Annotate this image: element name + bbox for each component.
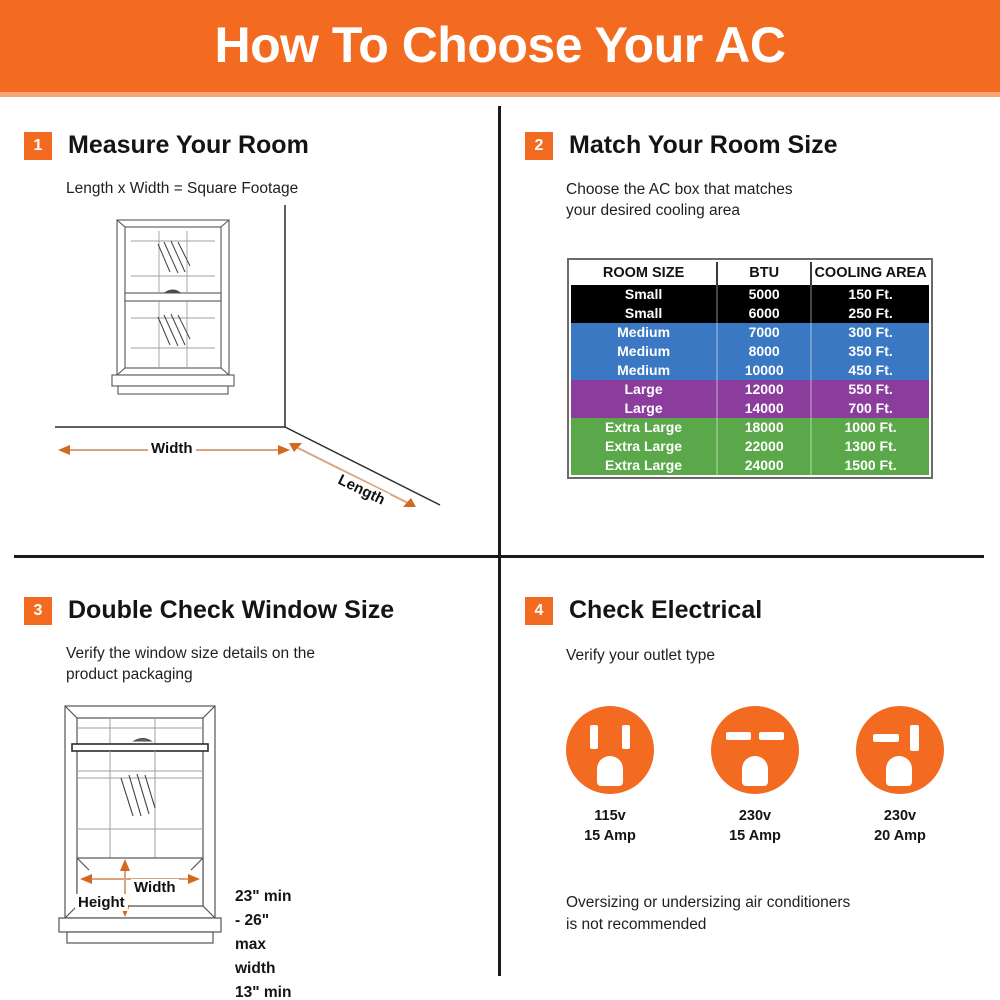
cell-btu: 18000 bbox=[717, 418, 811, 437]
cell-btu: 14000 bbox=[717, 399, 811, 418]
cell-cooling-area: 350 Ft. bbox=[811, 342, 929, 361]
window-size-spec: 23" min - 26" max width 13" min height o… bbox=[235, 885, 295, 1000]
table-row: Small 6000 250 Ft. bbox=[571, 304, 929, 323]
cell-room-size: Large bbox=[571, 380, 717, 399]
table-header-row: ROOM SIZE BTU COOLING AREA bbox=[571, 262, 929, 285]
vertical-divider bbox=[498, 106, 501, 976]
step-3-badge: 3 bbox=[24, 597, 52, 625]
window-width-label: Width bbox=[131, 879, 179, 896]
cell-cooling-area: 150 Ft. bbox=[811, 285, 929, 304]
outlet-option-230v-20amp[interactable]: 230v 20 Amp bbox=[845, 706, 955, 846]
table-row: Medium 10000 450 Ft. bbox=[571, 361, 929, 380]
step-4-subtitle: Verify your outlet type bbox=[566, 645, 966, 666]
header-underline bbox=[0, 92, 1000, 97]
step-3-title: Double Check Window Size bbox=[68, 596, 394, 625]
room-corner-diagram bbox=[30, 200, 490, 530]
cell-cooling-area: 300 Ft. bbox=[811, 323, 929, 342]
step-3-header: 3 Double Check Window Size bbox=[24, 596, 394, 625]
infographic-page: How To Choose Your AC 1 Measure Your Roo… bbox=[0, 0, 1000, 1000]
outlet-caption: 230v 15 Amp bbox=[729, 806, 781, 846]
table-row: Large 14000 700 Ft. bbox=[571, 399, 929, 418]
step-3-subtitle: Verify the window size details on the pr… bbox=[66, 643, 486, 685]
cell-cooling-area: 550 Ft. bbox=[811, 380, 929, 399]
cell-cooling-area: 1500 Ft. bbox=[811, 456, 929, 475]
column-header-cooling-area: COOLING AREA bbox=[811, 262, 929, 285]
cell-room-size: Extra Large bbox=[571, 456, 717, 475]
cell-room-size: Medium bbox=[571, 361, 717, 380]
step-4-title: Check Electrical bbox=[569, 596, 762, 625]
cell-room-size: Medium bbox=[571, 323, 717, 342]
table-row: Medium 8000 350 Ft. bbox=[571, 342, 929, 361]
table-row: Extra Large 24000 1500 Ft. bbox=[571, 456, 929, 475]
btu-table-container: ROOM SIZE BTU COOLING AREA Small 5000 15… bbox=[567, 258, 933, 479]
cell-room-size: Extra Large bbox=[571, 418, 717, 437]
step-1-subtitle: Length x Width = Square Footage bbox=[66, 178, 486, 199]
outlet-230v-15amp-icon bbox=[711, 706, 799, 794]
table-row: Extra Large 22000 1300 Ft. bbox=[571, 437, 929, 456]
cell-cooling-area: 700 Ft. bbox=[811, 399, 929, 418]
window-measure-diagram bbox=[55, 698, 255, 953]
step-2-title: Match Your Room Size bbox=[569, 131, 838, 160]
outlet-caption: 230v 20 Amp bbox=[874, 806, 926, 846]
outlet-230v-20amp-icon bbox=[856, 706, 944, 794]
cell-btu: 24000 bbox=[717, 456, 811, 475]
column-header-btu: BTU bbox=[717, 262, 811, 285]
cell-btu: 10000 bbox=[717, 361, 811, 380]
window-height-label: Height bbox=[75, 894, 128, 911]
sizing-note: Oversizing or undersizing air conditione… bbox=[566, 892, 956, 936]
btu-table-body: Small 5000 150 Ft. Small 6000 250 Ft. Me… bbox=[571, 285, 929, 475]
cell-btu: 6000 bbox=[717, 304, 811, 323]
btu-table: ROOM SIZE BTU COOLING AREA Small 5000 15… bbox=[571, 262, 929, 475]
step-2-badge: 2 bbox=[525, 132, 553, 160]
table-row: Medium 7000 300 Ft. bbox=[571, 323, 929, 342]
cell-btu: 12000 bbox=[717, 380, 811, 399]
cell-room-size: Extra Large bbox=[571, 437, 717, 456]
cell-btu: 22000 bbox=[717, 437, 811, 456]
cell-btu: 8000 bbox=[717, 342, 811, 361]
cell-cooling-area: 250 Ft. bbox=[811, 304, 929, 323]
step-2-subtitle: Choose the AC box that matches your desi… bbox=[566, 179, 966, 221]
cell-cooling-area: 450 Ft. bbox=[811, 361, 929, 380]
page-title: How To Choose Your AC bbox=[0, 14, 1000, 76]
table-row: Extra Large 18000 1000 Ft. bbox=[571, 418, 929, 437]
cell-btu: 7000 bbox=[717, 323, 811, 342]
outlet-type-group: 115v 15 Amp 230v 15 Amp 230v 20 Amp bbox=[555, 706, 955, 846]
cell-room-size: Small bbox=[571, 304, 717, 323]
step-1-header: 1 Measure Your Room bbox=[24, 131, 309, 160]
cell-cooling-area: 1300 Ft. bbox=[811, 437, 929, 456]
table-row: Large 12000 550 Ft. bbox=[571, 380, 929, 399]
column-header-room-size: ROOM SIZE bbox=[571, 262, 717, 285]
cell-room-size: Medium bbox=[571, 342, 717, 361]
outlet-option-230v-15amp[interactable]: 230v 15 Amp bbox=[700, 706, 810, 846]
table-row: Small 5000 150 Ft. bbox=[571, 285, 929, 304]
cell-room-size: Large bbox=[571, 399, 717, 418]
step-1-title: Measure Your Room bbox=[68, 131, 309, 160]
step-4-header: 4 Check Electrical bbox=[525, 596, 762, 625]
cell-btu: 5000 bbox=[717, 285, 811, 304]
step-1-badge: 1 bbox=[24, 132, 52, 160]
cell-room-size: Small bbox=[571, 285, 717, 304]
room-width-label: Width bbox=[148, 440, 196, 457]
outlet-caption: 115v 15 Amp bbox=[584, 806, 636, 846]
cell-cooling-area: 1000 Ft. bbox=[811, 418, 929, 437]
outlet-option-115v-15amp[interactable]: 115v 15 Amp bbox=[555, 706, 665, 846]
step-2-header: 2 Match Your Room Size bbox=[525, 131, 838, 160]
step-4-badge: 4 bbox=[525, 597, 553, 625]
horizontal-divider bbox=[14, 555, 984, 558]
outlet-115v-15amp-icon bbox=[566, 706, 654, 794]
